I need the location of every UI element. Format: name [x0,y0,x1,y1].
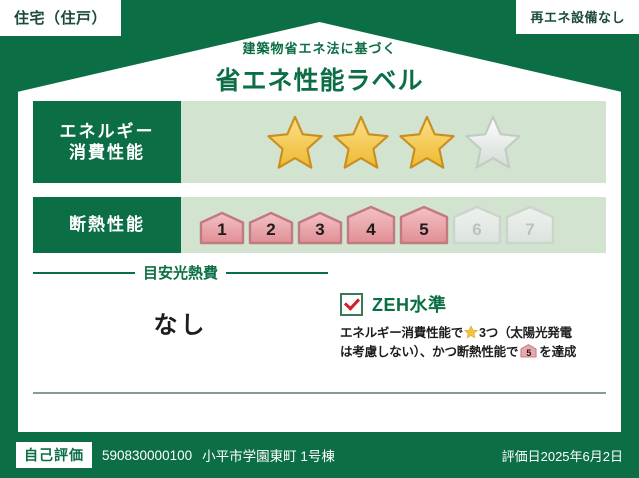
zeh-desc-stars: 3つ（太陽光発電 [479,326,572,340]
star-filled-icon [266,114,324,170]
insulation-level-number: 1 [199,220,245,240]
page-title: 省エネ性能ラベル [0,61,639,97]
label-frame: 住宅（住戸） 再エネ設備なし 建築物省エネ法に基づく 省エネ性能ラベル エネルギ… [0,0,639,478]
insulation-house-number: 5 [520,349,537,358]
footer-bar: 自己評価 590830000100 小平市学園東町 1号棟 評価日2025年6月… [0,432,639,478]
insulation-level-number: 6 [452,220,502,240]
section-divider [33,392,606,394]
utility-cost-value: なし [33,305,328,340]
insulation-level-1: 1 [199,211,245,245]
zeh-heading: ZEH水準 [340,291,612,317]
energy-label-line1: エネルギー [60,121,155,142]
star-filled-icon [398,114,456,170]
label-subtitle: 建築物省エネ法に基づく [0,38,639,57]
evaluation-date: 評価日2025年6月2日 [502,446,623,465]
insulation-level-number: 5 [399,220,449,240]
zeh-title: ZEH水準 [372,291,447,317]
utility-cost-heading: 目安光熱費 [33,262,328,283]
building-type-tag: 住宅（住戸） [0,0,121,36]
insulation-level-number: 7 [505,220,555,240]
insulation-level-2: 2 [248,211,294,245]
zeh-description: エネルギー消費性能で3つ（太陽光発電は考慮しない）、かつ断熱性能で5を達成 [340,324,612,363]
star-filled-icon [332,114,390,170]
insulation-performance-row: 断熱性能 1234567 [33,197,606,253]
insulation-level-number: 2 [248,220,294,240]
title-block: 建築物省エネ法に基づく 省エネ性能ラベル [0,38,639,97]
property-address: 小平市学園東町 1号棟 [202,445,335,465]
certificate-id: 590830000100 [102,448,192,463]
zeh-section: ZEH水準 エネルギー消費性能で3つ（太陽光発電は考慮しない）、かつ断熱性能で5… [340,291,612,363]
insulation-performance-label: 断熱性能 [33,197,181,253]
zeh-checkbox-checked-icon[interactable] [340,293,363,316]
zeh-desc-part3: を達成 [539,345,576,359]
insulation-level-scale: 1234567 [199,205,555,245]
insulation-level-7: 7 [505,205,555,245]
rule-right [226,272,328,274]
energy-label-line2: 消費性能 [69,142,145,163]
insulation-label-text: 断熱性能 [69,214,145,235]
insulation-house-icon: 5 [520,344,537,358]
utility-cost-title: 目安光熱費 [143,262,218,283]
insulation-performance-value: 1234567 [181,197,606,253]
renewable-equipment-tag: 再エネ設備なし [516,0,639,34]
insulation-level-5: 5 [399,205,449,245]
star-empty-icon [464,114,522,170]
star-rating [266,114,522,170]
rule-left [33,272,135,274]
energy-performance-value [181,101,606,183]
energy-performance-row: エネルギー 消費性能 [33,101,606,183]
insulation-level-number: 4 [346,220,396,240]
insulation-level-number: 3 [297,220,343,240]
insulation-level-6: 6 [452,205,502,245]
insulation-level-3: 3 [297,211,343,245]
insulation-level-4: 4 [346,205,396,245]
star-icon [464,325,478,339]
zeh-desc-part1: エネルギー消費性能で [340,326,463,340]
evaluation-type-badge: 自己評価 [16,442,92,468]
zeh-desc-part2: は考慮しない）、かつ断熱性能で [340,345,518,359]
energy-performance-label: エネルギー 消費性能 [33,101,181,183]
